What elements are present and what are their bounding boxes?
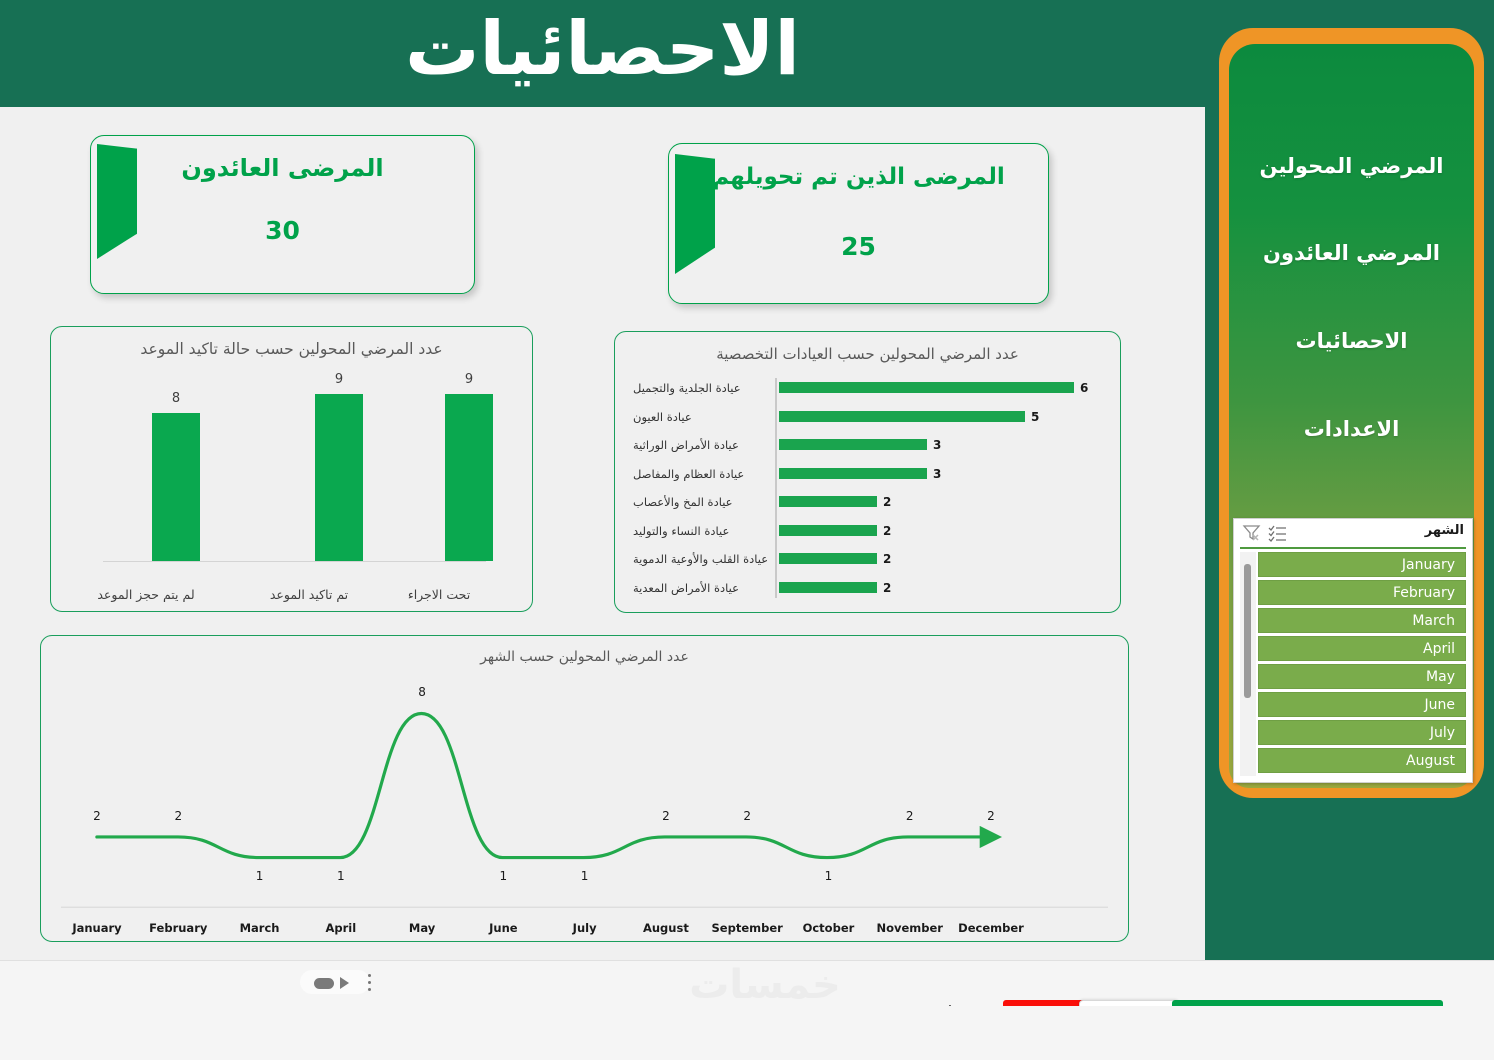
bar-category-label: عيادة النساء والتوليد	[633, 519, 771, 543]
line-month-label: January	[51, 921, 143, 935]
bar-value-label: 2	[883, 490, 891, 514]
slicer-item-list: JanuaryFebruaryMarchAprilMayJuneJulyAugu…	[1258, 552, 1466, 776]
slicer-month[interactable]: الشهر JanuaryFebruaryMarch	[1233, 518, 1473, 783]
column-category-label: تحت الاجراء	[374, 587, 504, 602]
line-month-label: May	[376, 921, 468, 935]
bar-category-label: عيادة المخ والأعصاب	[633, 490, 771, 514]
slicer-title: الشهر	[1425, 523, 1464, 538]
bar-category-label: عيادة الأمراض الوراثية	[633, 433, 771, 457]
line-value-label: 1	[806, 869, 850, 883]
line-month-label: November	[864, 921, 956, 935]
bar-row: عيادة النساء والتوليد2	[633, 519, 1104, 543]
bar-value-label: 6	[1080, 376, 1088, 400]
bar-fill	[779, 439, 927, 450]
bar-row: عيادة العظام والمفاصل3	[633, 462, 1104, 486]
bar-value-label: 2	[883, 519, 891, 543]
excel-dashboard-window: الاحصائيات المرضى العائدون 30 المرضى الذ…	[0, 0, 1494, 1060]
kpi-title: المرضى العائدون	[91, 154, 474, 182]
chart-title: عدد المرضي المحولين حسب حالة تاكيد الموع…	[51, 340, 532, 358]
bar-fill	[779, 411, 1025, 422]
slicer-item[interactable]: June	[1258, 692, 1466, 717]
line-month-label: September	[701, 921, 793, 935]
line-month-label: October	[782, 921, 874, 935]
column-bar: 9	[315, 394, 363, 561]
nav-item-label: المرضي المحولين	[1260, 154, 1444, 178]
chart-title: عدد المرضي المحولين حسب العيادات التخصصي…	[615, 345, 1120, 363]
bar-value-label: 2	[883, 547, 891, 571]
nav-item-2[interactable]: المرضي العائدون	[1229, 241, 1474, 265]
line-month-label: June	[457, 921, 549, 935]
bar-row: عيادة القلب والأوعية الدموية2	[633, 547, 1104, 571]
line-month-label: August	[620, 921, 712, 935]
line-chart-svg	[41, 636, 1128, 941]
line-value-label: 2	[644, 809, 688, 823]
record-macro-icon[interactable]	[300, 970, 370, 994]
kpi-card-returning-patients[interactable]: المرضى العائدون 30	[90, 135, 475, 294]
kebab-menu-icon[interactable]	[362, 970, 376, 994]
line-series-path	[97, 713, 989, 857]
line-value-label: 1	[319, 869, 363, 883]
bar-value-label: 5	[1031, 405, 1039, 429]
bar-category-label: عيادة العظام والمفاصل	[633, 462, 771, 486]
dashboard-header: الاحصائيات	[0, 0, 1205, 107]
play-triangle-icon	[340, 977, 349, 989]
slicer-item[interactable]: July	[1258, 720, 1466, 745]
kpi-title: المرضى الذين تم تحويلهم	[669, 164, 1048, 190]
column-value-label: 9	[284, 372, 394, 387]
line-value-label: 2	[75, 809, 119, 823]
watermark: خمسات	[620, 962, 910, 1008]
bar-category-label: عيادة الجلدية والتجميل	[633, 376, 771, 400]
slicer-item[interactable]: May	[1258, 664, 1466, 689]
x-axis-line	[103, 561, 486, 562]
page-title: الاحصائيات	[0, 0, 1205, 103]
slicer-item[interactable]: February	[1258, 580, 1466, 605]
slicer-header: الشهر	[1234, 519, 1472, 547]
nav-item-3[interactable]: الاحصائيات	[1229, 329, 1474, 353]
bar-fill	[779, 582, 877, 593]
nav-item-4[interactable]: الاعدادات	[1229, 417, 1474, 441]
nav-item-label: الاعدادات	[1304, 417, 1400, 441]
column-group: 8	[121, 413, 231, 561]
column-value-label: 9	[414, 372, 524, 387]
slicer-item[interactable]: January	[1258, 552, 1466, 577]
bar-value-label: 2	[883, 576, 891, 600]
slicer-item[interactable]: April	[1258, 636, 1466, 661]
bar-fill	[779, 525, 877, 536]
line-month-label: July	[539, 921, 631, 935]
chart-clinics[interactable]: عدد المرضي المحولين حسب العيادات التخصصي…	[614, 331, 1121, 613]
slicer-item[interactable]: March	[1258, 608, 1466, 633]
bar-row: عيادة المخ والأعصاب2	[633, 490, 1104, 514]
chart-plot-area: عيادة الجلدية والتجميل6عيادة العيون5عياد…	[633, 376, 1104, 600]
line-value-label: 2	[888, 809, 932, 823]
slicer-divider	[1240, 547, 1466, 549]
right-navigation-panel: المرضي المحولينالمرضي العائدونالاحصائيات…	[1205, 0, 1494, 960]
line-month-label: April	[295, 921, 387, 935]
line-value-label: 1	[481, 869, 525, 883]
kpi-value: 30	[91, 216, 474, 245]
line-month-label: March	[214, 921, 306, 935]
line-value-label: 1	[238, 869, 282, 883]
line-value-label: 2	[969, 809, 1013, 823]
bar-row: عيادة العيون5	[633, 405, 1104, 429]
column-group: 9	[284, 394, 394, 561]
record-dot	[314, 978, 334, 989]
bar-row: عيادة الجلدية والتجميل6	[633, 376, 1104, 400]
chart-monthly-transfers[interactable]: عدد المرضي المحولين حسب الشهر 2January2F…	[40, 635, 1129, 942]
line-value-label: 2	[725, 809, 769, 823]
slicer-body: JanuaryFebruaryMarchAprilMayJuneJulyAugu…	[1240, 552, 1466, 776]
nav-item-label: الاحصائيات	[1296, 329, 1408, 353]
chart-plot-area: 998	[81, 377, 502, 562]
line-value-label: 2	[156, 809, 200, 823]
kpi-card-transferred-patients[interactable]: المرضى الذين تم تحويلهم 25	[668, 143, 1049, 304]
bar-category-label: عيادة الأمراض المعدية	[633, 576, 771, 600]
bar-value-label: 3	[933, 433, 941, 457]
column-value-label: 8	[121, 391, 231, 406]
column-bar: 9	[445, 394, 493, 561]
bar-category-label: عيادة العيون	[633, 405, 771, 429]
chart-appointment-status[interactable]: عدد المرضي المحولين حسب حالة تاكيد الموع…	[50, 326, 533, 612]
line-value-label: 1	[563, 869, 607, 883]
line-value-label: 8	[400, 685, 444, 699]
line-month-label: February	[132, 921, 224, 935]
column-category-label: لم يتم حجز الموعد	[81, 587, 211, 602]
bar-fill	[779, 468, 927, 479]
slicer-scrollbar[interactable]	[1240, 552, 1256, 776]
clear-filter-icon[interactable]	[1242, 524, 1262, 542]
bar-row: عيادة الأمراض المعدية2	[633, 576, 1104, 600]
bar-fill	[779, 496, 877, 507]
bar-fill	[779, 553, 877, 564]
bar-fill	[779, 382, 1074, 393]
nav-item-1[interactable]: المرضي المحولين	[1229, 154, 1474, 178]
column-bar: 8	[152, 413, 200, 561]
multi-select-icon[interactable]	[1268, 524, 1288, 542]
kpi-value: 25	[669, 232, 1048, 261]
column-category-label: تم تاكيد الموعد	[244, 587, 374, 602]
view-bar: − + 10	[0, 1006, 1494, 1060]
nav-item-label: المرضي العائدون	[1263, 241, 1440, 265]
slicer-scroll-thumb[interactable]	[1244, 564, 1251, 698]
bar-value-label: 3	[933, 462, 941, 486]
column-group: 9	[414, 394, 524, 561]
slicer-item[interactable]: August	[1258, 748, 1466, 773]
line-month-label: December	[945, 921, 1037, 935]
bar-category-label: عيادة القلب والأوعية الدموية	[633, 547, 771, 571]
bar-row: عيادة الأمراض الوراثية3	[633, 433, 1104, 457]
